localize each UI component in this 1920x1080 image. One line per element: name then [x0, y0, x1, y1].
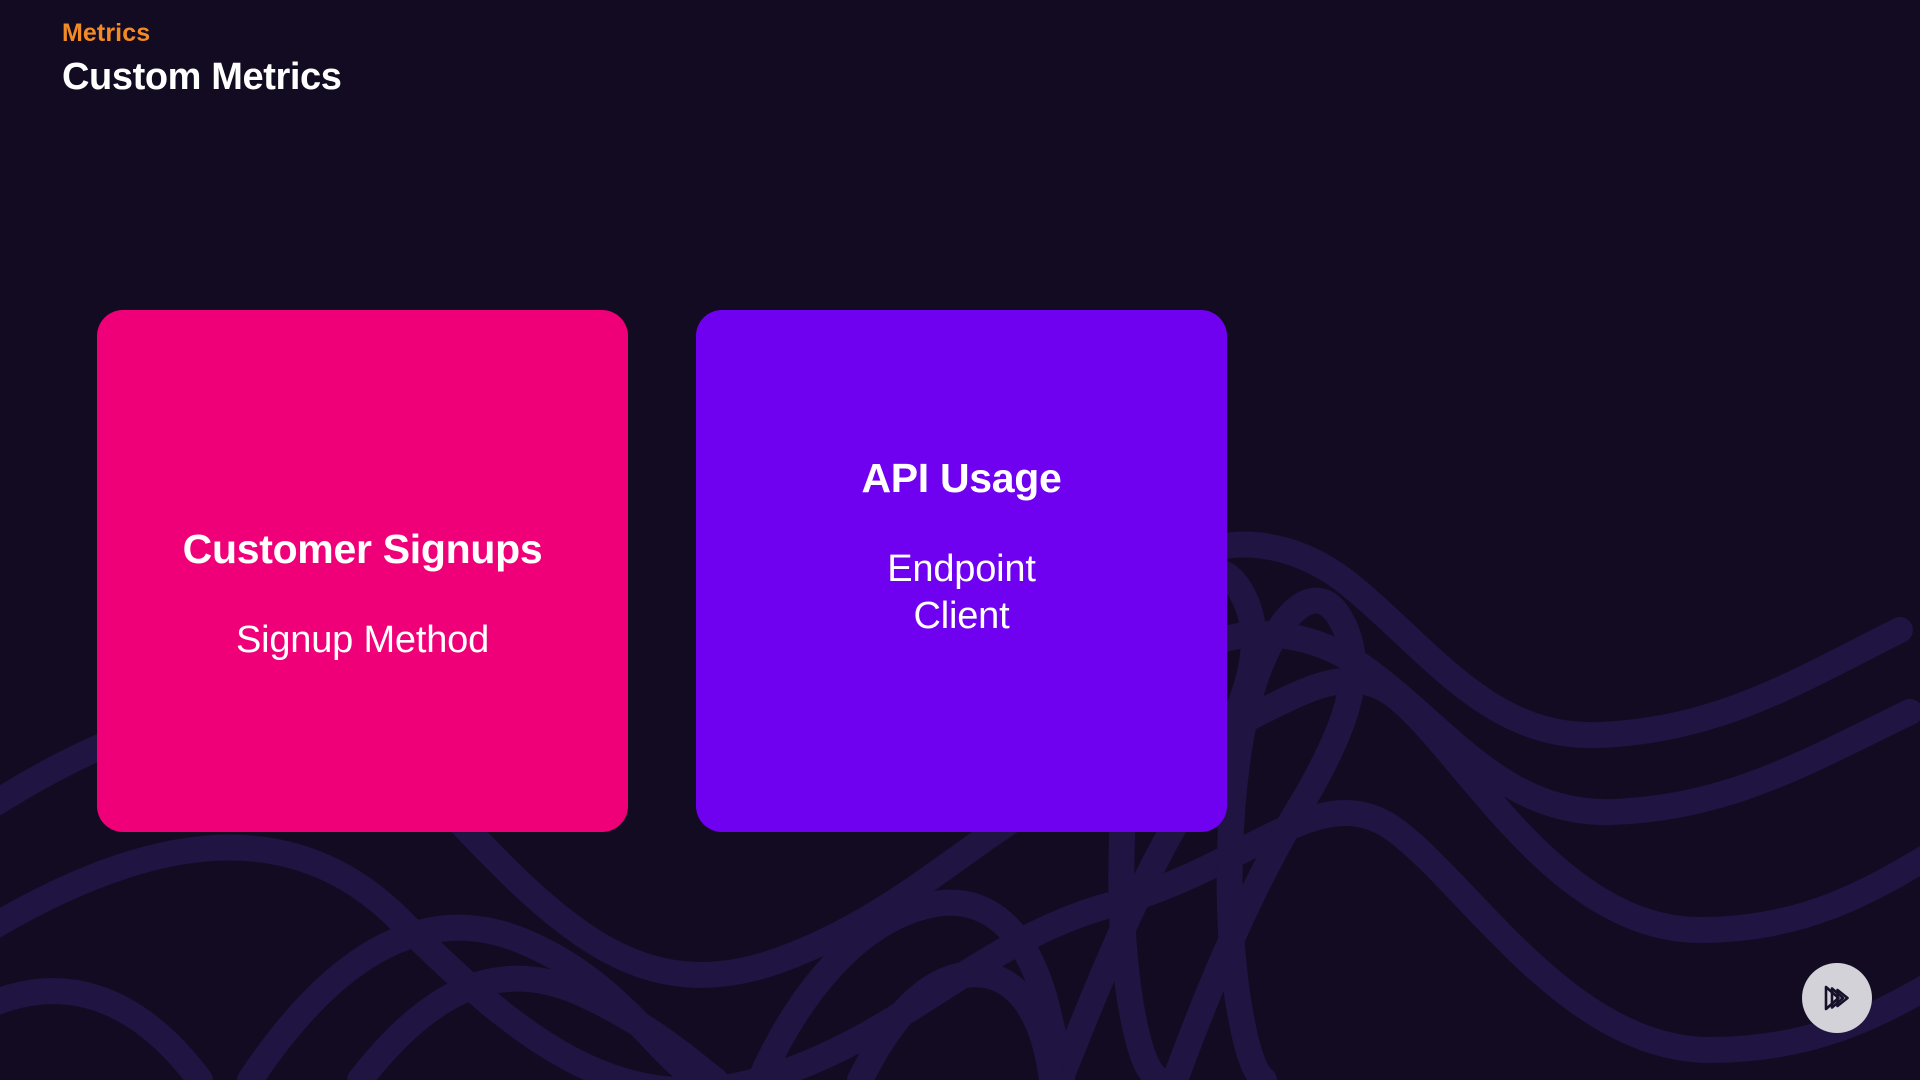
slide-header: Metrics Custom Metrics: [62, 18, 341, 101]
brand-badge[interactable]: [1802, 963, 1872, 1033]
card-content: Customer Signups Signup Method: [183, 526, 543, 664]
card-content: API Usage Endpoint Client: [861, 455, 1061, 639]
metric-card-api-usage[interactable]: API Usage Endpoint Client: [696, 310, 1227, 832]
card-subtitle-customer-signups: Signup Method: [236, 617, 489, 663]
card-title-api-usage: API Usage: [861, 455, 1061, 502]
metric-card-group: Customer Signups Signup Method API Usage…: [97, 310, 1227, 832]
play-forward-icon: [1818, 979, 1856, 1017]
card-title-customer-signups: Customer Signups: [183, 526, 543, 573]
slide-canvas: Metrics Custom Metrics Customer Signups …: [0, 0, 1920, 1080]
card-subtitle-api-usage: Endpoint Client: [887, 546, 1035, 639]
metric-card-customer-signups[interactable]: Customer Signups Signup Method: [97, 310, 628, 832]
page-title: Custom Metrics: [62, 55, 341, 101]
header-eyebrow: Metrics: [62, 18, 341, 49]
